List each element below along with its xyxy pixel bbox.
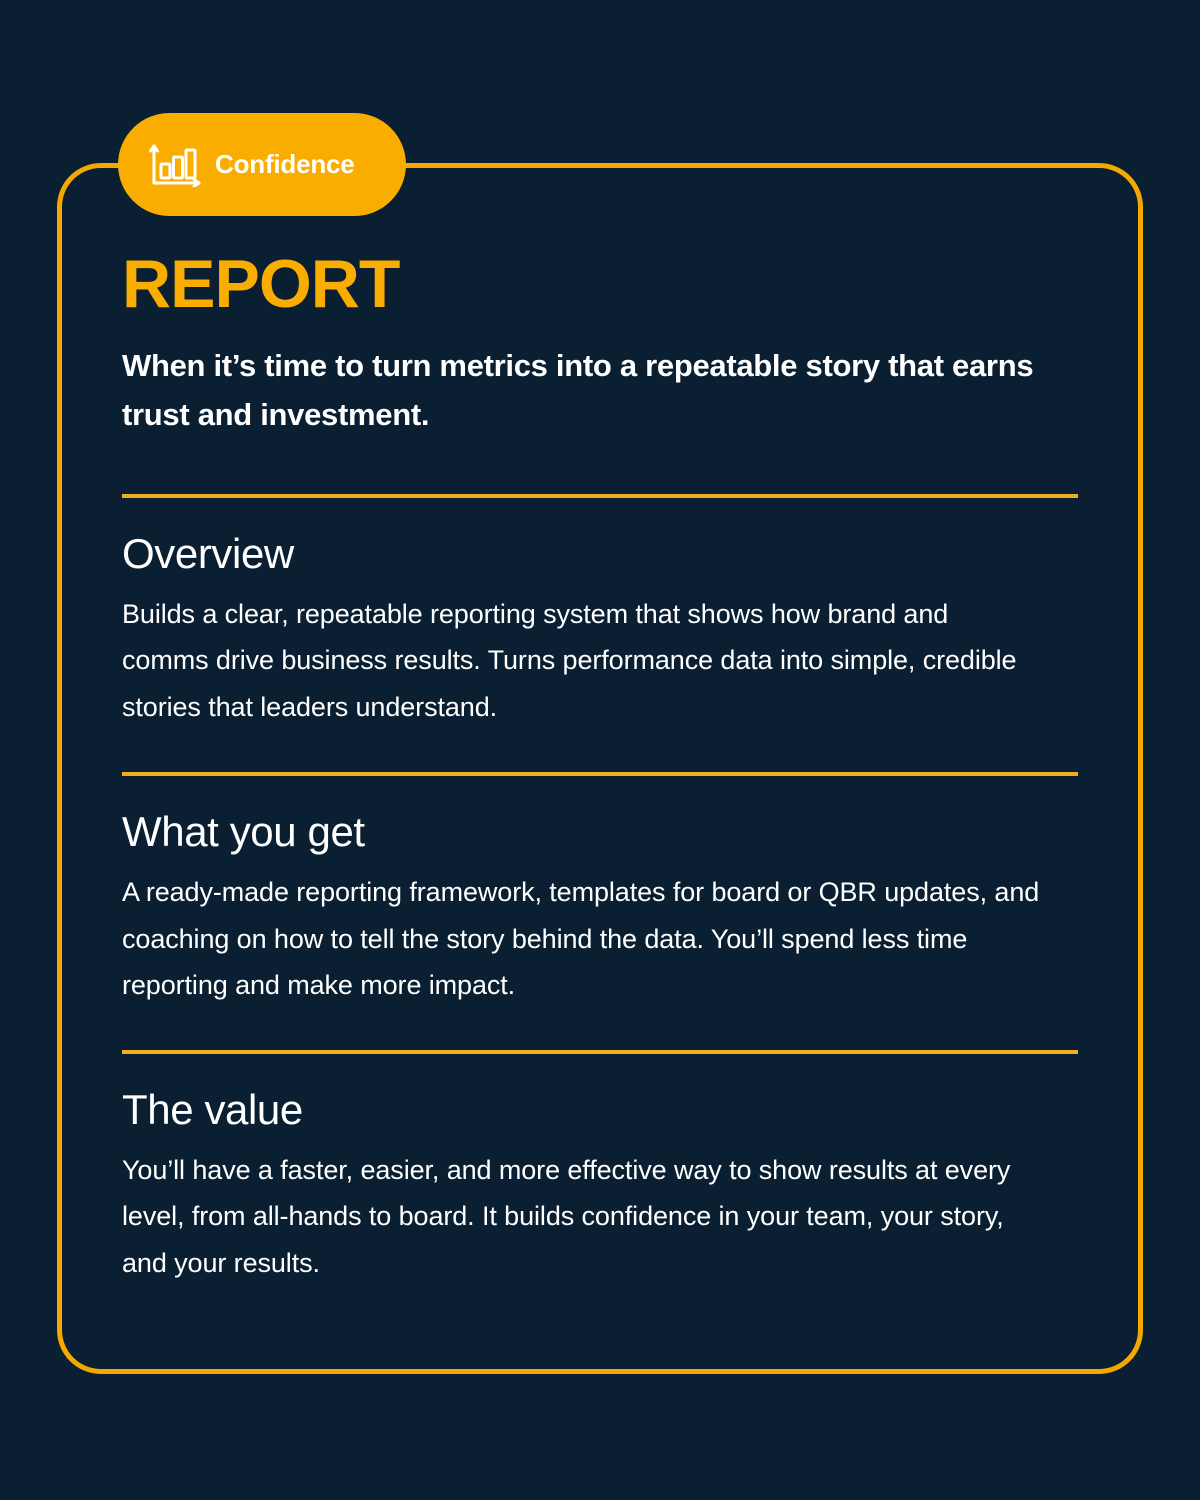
card-content: REPORT When it’s time to turn metrics in… bbox=[122, 252, 1078, 1286]
section-the-value: The value You’ll have a faster, easier, … bbox=[122, 1054, 1078, 1287]
report-card-page: Confidence REPORT When it’s time to turn… bbox=[0, 0, 1200, 1500]
bar-chart-icon bbox=[149, 143, 202, 187]
section-what-you-get-body: A ready-made reporting framework, templa… bbox=[122, 869, 1057, 1008]
page-subtitle: When it’s time to turn metrics into a re… bbox=[122, 342, 1078, 440]
section-the-value-body: You’ll have a faster, easier, and more e… bbox=[122, 1147, 1022, 1286]
section-what-you-get-heading: What you get bbox=[122, 809, 1078, 855]
section-overview-heading: Overview bbox=[122, 531, 1078, 577]
section-overview-body: Builds a clear, repeatable reporting sys… bbox=[122, 591, 1027, 730]
badge-label: Confidence bbox=[215, 149, 355, 180]
section-what-you-get: What you get A ready-made reporting fram… bbox=[122, 776, 1078, 1009]
section-the-value-heading: The value bbox=[122, 1087, 1078, 1133]
page-title: REPORT bbox=[122, 252, 1078, 317]
confidence-badge[interactable]: Confidence bbox=[118, 113, 406, 216]
section-overview: Overview Builds a clear, repeatable repo… bbox=[122, 498, 1078, 731]
